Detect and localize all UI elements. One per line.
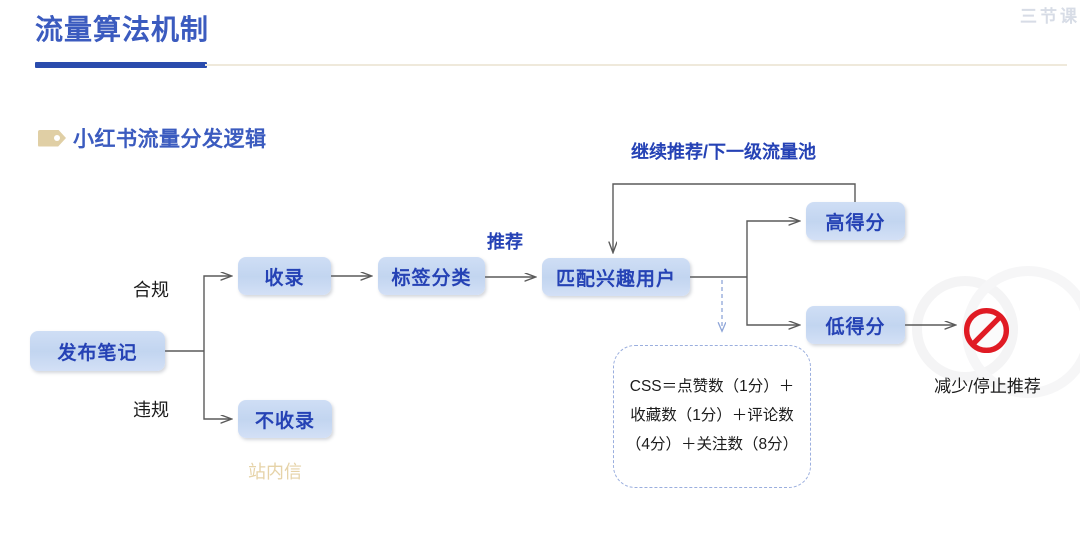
flow-node-match: 匹配兴趣用户 [542,258,690,296]
flow-node-tagging: 标签分类 [378,257,485,295]
page-title: 流量算法机制 [35,8,209,48]
flow-node-high-score: 高得分 [806,202,905,240]
flow-label-site-msg: 站内信 [248,458,302,484]
flow-label-compliant: 合规 [133,276,169,302]
css-formula-line-1: CSS＝点赞数（1分）＋ [626,373,798,402]
flow-node-low-score: 低得分 [806,306,905,344]
title-rule-accent [35,62,207,68]
flow-label-recommend: 推荐 [487,228,523,254]
subtitle: 小红书流量分发逻辑 [38,123,267,153]
prohibition-icon [962,306,1011,355]
flow-connectors [0,0,1080,544]
tag-icon [38,130,66,147]
flow-node-not-indexed: 不收录 [238,400,332,438]
flow-node-indexed: 收录 [238,257,331,295]
watermark-logo: 三节课 [1020,2,1080,27]
flow-node-publish: 发布笔记 [30,331,165,371]
subtitle-label: 小红书流量分发逻辑 [73,123,267,153]
edge-bus-low [747,277,799,325]
edge-publish-not-indexed [204,351,231,419]
stop-caption: 减少/停止推荐 [910,372,1065,397]
edge-bus-high [747,221,799,277]
edge-publish-indexed [204,276,231,351]
title-rule-extension [205,64,1067,66]
flow-label-next-pool: 继续推荐/下一级流量池 [631,138,816,164]
css-formula-line-2: 收藏数（1分）＋评论数 [626,402,798,431]
css-formula-box: CSS＝点赞数（1分）＋ 收藏数（1分）＋评论数 （4分）＋关注数（8分） [613,345,811,488]
css-formula-line-3: （4分）＋关注数（8分） [626,431,798,460]
flow-label-violation: 违规 [133,396,169,422]
css-formula-text: CSS＝点赞数（1分）＋ 收藏数（1分）＋评论数 （4分）＋关注数（8分） [620,373,804,459]
